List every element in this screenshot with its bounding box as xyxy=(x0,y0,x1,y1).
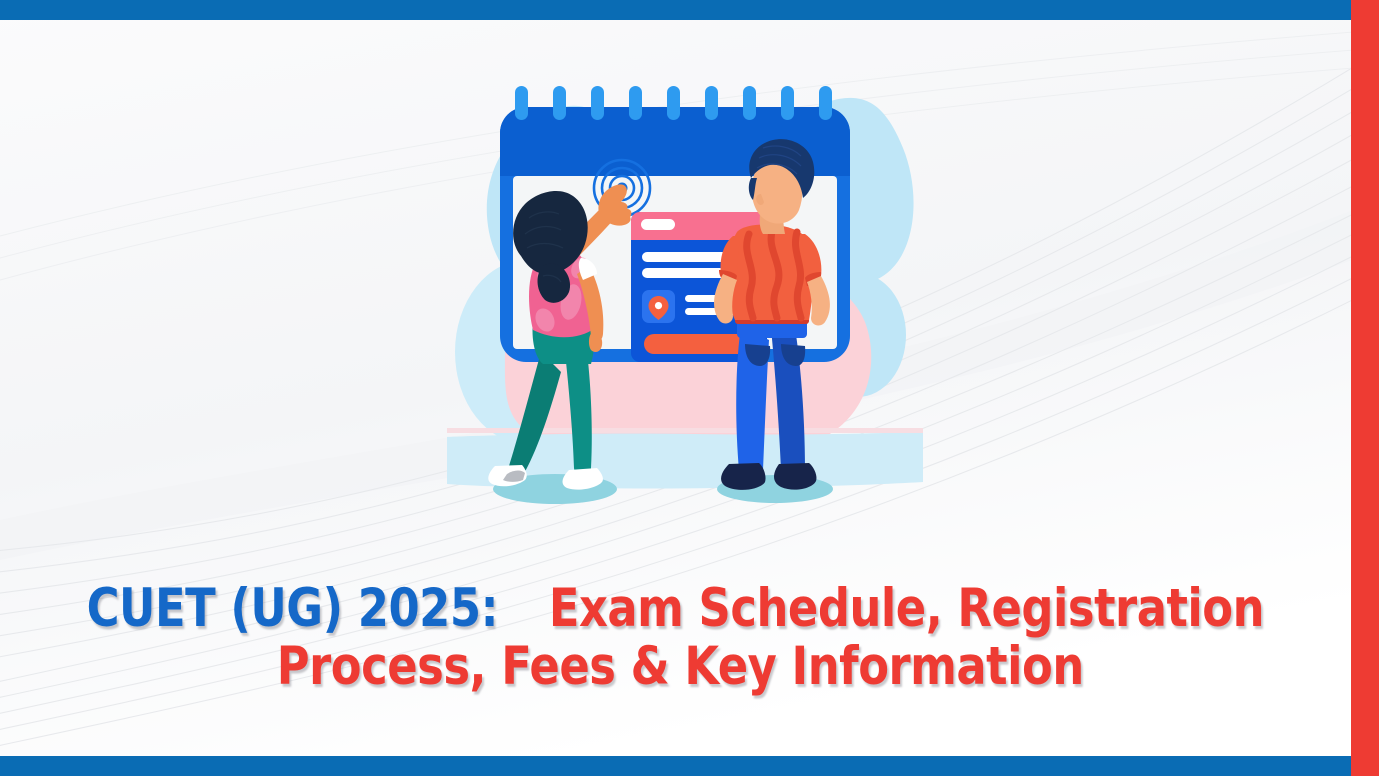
headline-blue-part: CUET (UG) 2025: xyxy=(86,580,513,638)
card-header-pill xyxy=(641,219,675,230)
headline-line-1: CUET (UG) 2025: Exam Schedule, Registrat… xyxy=(60,580,1300,638)
headline-line-2: Process, Fees & Key Information xyxy=(60,638,1300,696)
card-cta-button xyxy=(644,334,754,354)
right-red-rail xyxy=(1351,0,1379,776)
bottom-blue-bar xyxy=(0,756,1379,776)
banner-illustration xyxy=(445,52,925,522)
calendar-rings-front xyxy=(515,86,832,120)
banner-headline: CUET (UG) 2025: Exam Schedule, Registrat… xyxy=(60,580,1300,697)
top-blue-bar xyxy=(0,0,1379,20)
headline-red-part-2: Process, Fees & Key Information xyxy=(276,638,1083,696)
headline-red-part-1: Exam Schedule, Registration xyxy=(549,580,1264,638)
cuet-banner: CUET (UG) 2025: Exam Schedule, Registrat… xyxy=(0,0,1379,776)
